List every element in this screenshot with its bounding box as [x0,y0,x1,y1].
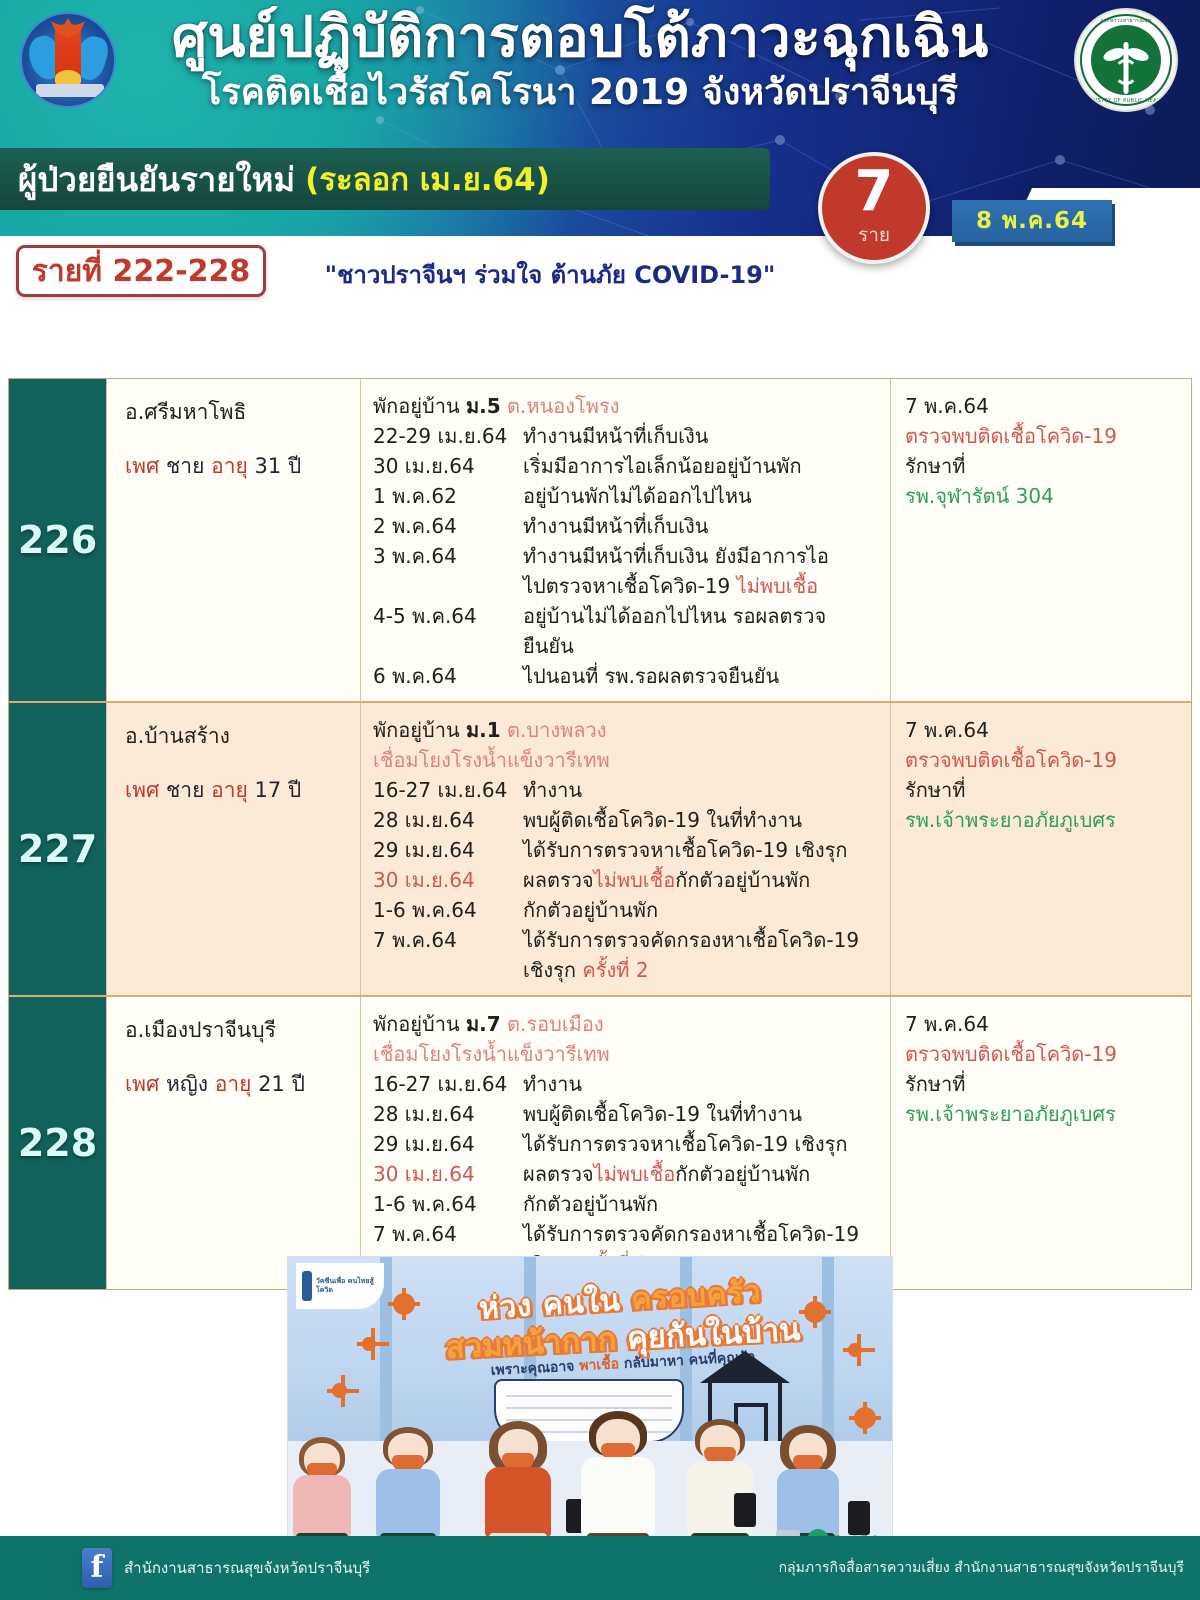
timeline-entry: 16-27 เม.ย.64ทำงาน [373,775,882,805]
timeline-entry: 3 พ.ค.64ทำงานมีหน้าที่เก็บเงิน ยังมีอากา… [373,541,882,571]
timeline-date: 29 เม.ย.64 [373,835,523,865]
demographics: เพศ หญิง อายุ 21 ปี [125,1069,350,1099]
treatment-cell: 7 พ.ค.64ตรวจพบติดเชื้อโควิด-19รักษาที่รพ… [891,703,1191,995]
new-confirmed-cases-band: ผู้ป่วยยืนยันรายใหม่ (ระลอก เม.ย.64) [0,148,770,210]
case-number-cell: 226 [9,379,106,701]
timeline-date: 7 พ.ค.64 [373,925,523,955]
facebook-icon[interactable] [82,1548,112,1588]
timeline-date: 4-5 พ.ค.64 [373,601,523,631]
hospital-name: รพ.จุฬารัตน์ 304 [905,481,1183,511]
detection-date: 7 พ.ค.64 [905,715,1183,745]
header-title-sub: โรคติดเชื้อไวรัสโคโรนา 2019 จังหวัดปราจี… [150,70,1010,116]
home-address-line: พักอยู่บ้าน ม.7 ต.รอบเมือง [373,1009,882,1039]
timeline-entry: 29 เม.ย.64ได้รับการตรวจหาเชื้อโควิด-19 เ… [373,1129,882,1159]
district-name: อ.บ้านสร้าง [125,721,350,751]
treatment-cell: 7 พ.ค.64ตรวจพบติดเชื้อโควิด-19รักษาที่รพ… [891,379,1191,701]
timeline-entry: 30 เม.ย.64ผลตรวจไม่พบเชื้อกักตัวอยู่บ้าน… [373,1159,882,1189]
sex-label: เพศ [125,454,159,478]
timeline-entry: 30 เม.ย.64ผลตรวจไม่พบเชื้อกักตัวอยู่บ้าน… [373,865,882,895]
timeline-text: เริ่มมีอาการไอเล็กน้อยอยู่บ้านพัก [523,451,882,481]
timeline-entry: 28 เม.ย.64พบผู้ติดเชื้อโควิด-19 ในที่ทำง… [373,805,882,835]
poster-campaign-badge: วัคซีนเพื่อ คนไทยสู้โควิด [296,1263,384,1309]
demographics: เพศ ชาย อายุ 31 ปี [125,451,350,481]
timeline-text: อยู่บ้านพักไม่ได้ออกไปไหน [523,481,882,511]
case-count-badge: 7 ราย [818,152,930,264]
poster-subline-b: พาเชื้อ [579,1356,620,1374]
timeline-text: พบผู้ติดเชื้อโควิด-19 ในที่ทำงาน [523,1099,882,1129]
timeline-date: 30 เม.ย.64 [373,1159,523,1189]
timeline-text: ทำงาน [523,775,882,805]
age-value: 17 [255,778,282,802]
timeline-date: 16-27 เม.ย.64 [373,1069,523,1099]
age-unit: ปี [292,1072,305,1096]
timeline-date: 30 เม.ย.64 [373,451,523,481]
home-address-line: พักอยู่บ้าน ม.5 ต.หนองโพรง [373,391,882,421]
timeline-entry: 22-29 เม.ย.64ทำงานมีหน้าที่เก็บเงิน [373,421,882,451]
case-count-unit: ราย [858,220,890,250]
timeline-date: 1 พ.ค.62 [373,481,523,511]
workplace-link-line: เชื่อมโยงโรงน้ำแข็งวารีเทพ [373,1039,882,1069]
timeline-entry: 1-6 พ.ค.64กักตัวอยู่บ้านพัก [373,895,882,925]
timeline-text: ผลตรวจไม่พบเชื้อกักตัวอยู่บ้านพัก [523,865,882,895]
age-label: อายุ [211,778,248,802]
timeline-entry: 16-27 เม.ย.64ทำงาน [373,1069,882,1099]
table-row: 226อ.ศรีมหาโพธิเพศ ชาย อายุ 31 ปีพักอยู่… [9,379,1191,703]
age-label: อายุ [211,454,248,478]
timeline-date: 28 เม.ย.64 [373,1099,523,1129]
moph-emblem-icon: กระทรวงสาธารณสุข MINISTRY OF PUBLIC HEAL… [1074,8,1178,112]
home-address-line: พักอยู่บ้าน ม.1 ต.บางพลวง [373,715,882,745]
timeline-continuation: ไปตรวจหาเชื้อโควิด-19 ไม่พบเชื้อ [373,571,882,601]
timeline-cell: พักอยู่บ้าน ม.5 ต.หนองโพรง22-29 เม.ย.64ท… [361,379,891,701]
timeline-text: ได้รับการตรวจหาเชื้อโควิด-19 เชิงรุก [523,1129,882,1159]
virus-icon [332,1383,347,1398]
timeline-text: ทำงาน [523,1069,882,1099]
detection-date: 7 พ.ค.64 [905,1009,1183,1039]
case-number-cell: 228 [9,997,106,1289]
poster-badge-text: วัคซีนเพื่อ คนไทยสู้โควิด [316,1277,378,1295]
timeline-text: ทำงานมีหน้าที่เก็บเงิน [523,511,882,541]
timeline-entry: 28 เม.ย.64พบผู้ติดเชื้อโควิด-19 ในที่ทำง… [373,1099,882,1129]
timeline-text: กักตัวอยู่บ้านพัก [523,895,882,925]
workplace-link-line: เชื่อมโยงโรงน้ำแข็งวารีเทพ [373,745,882,775]
sex-value: หญิง [166,1072,208,1096]
band-wave-label: (ระลอก เม.ย.64) [305,154,550,204]
age-unit: ปี [288,778,301,802]
timeline-date: 7 พ.ค.64 [373,1219,523,1249]
treated-at-label: รักษาที่ [905,451,1183,481]
page-footer: สำนักงานสาธารณสุขจังหวัดปราจีนบุรี กลุ่ม… [0,1536,1200,1600]
moph-ring-bottom-text: MINISTRY OF PUBLIC HEALTH [1076,98,1176,104]
timeline-text: ทำงานมีหน้าที่เก็บเงิน ยังมีอาการไอ [523,541,882,571]
timeline-entry: 7 พ.ค.64ได้รับการตรวจคัดกรองหาเชื้อโควิด… [373,925,882,955]
demographics: เพศ ชาย อายุ 17 ปี [125,775,350,805]
hospital-name: รพ.เจ้าพระยาอภัยภูเบศร [905,805,1183,835]
virus-icon [362,1337,376,1351]
timeline-date: 2 พ.ค.64 [373,511,523,541]
case-number: 227 [18,827,97,871]
footer-facebook-page[interactable]: สำนักงานสาธารณสุขจังหวัดปราจีนบุรี [124,1556,370,1580]
sex-value: ชาย [166,778,204,802]
sex-label: เพศ [125,1072,159,1096]
page-number-label: หน้า 2/2 [1000,312,1116,318]
case-number-cell: 227 [9,703,106,995]
case-table: 226อ.ศรีมหาโพธิเพศ ชาย อายุ 31 ปีพักอยู่… [8,378,1192,1290]
case-number: 226 [18,518,97,562]
timeline-entry: 2 พ.ค.64ทำงานมีหน้าที่เก็บเงิน [373,511,882,541]
district-name: อ.เมืองปราจีนบุรี [125,1015,350,1045]
timeline-text: ได้รับการตรวจคัดกรองหาเชื้อโควิด-19 [523,1219,882,1249]
detection-date: 7 พ.ค.64 [905,391,1183,421]
treated-at-label: รักษาที่ [905,1069,1183,1099]
timeline-entry: 29 เม.ย.64ได้รับการตรวจหาเชื้อโควิด-19 เ… [373,835,882,865]
age-unit: ปี [288,454,301,478]
timeline-text: กักตัวอยู่บ้านพัก [523,1189,882,1219]
timeline-entry: 7 พ.ค.64ได้รับการตรวจคัดกรองหาเชื้อโควิด… [373,1219,882,1249]
vaccine-bottle-icon [302,1271,312,1301]
detection-result: ตรวจพบติดเชื้อโควิด-19 [905,1039,1183,1069]
detection-result: ตรวจพบติดเชื้อโควิด-19 [905,745,1183,775]
timeline-date: 30 เม.ย.64 [373,865,523,895]
report-date-text: 8 พ.ค.64 [976,203,1088,239]
case-count-number: 7 [855,166,894,218]
timeline-text: ได้รับการตรวจคัดกรองหาเชื้อโควิด-19 [523,925,882,955]
district-name: อ.ศรีมหาโพธิ [125,397,350,427]
timeline-entry: 6 พ.ค.64ไปนอนที่ รพ.รอผลตรวจยืนยัน [373,661,882,691]
timeline-date: 16-27 เม.ย.64 [373,775,523,805]
band-label: ผู้ป่วยยืนยันรายใหม่ [18,153,295,206]
sex-label: เพศ [125,778,159,802]
timeline-text: ผลตรวจไม่พบเชื้อกักตัวอยู่บ้านพัก [523,1159,882,1189]
table-row: 228อ.เมืองปราจีนบุรีเพศ หญิง อายุ 21 ปีพ… [9,997,1191,1289]
timeline-date: 6 พ.ค.64 [373,661,523,691]
moph-ring-top-text: กระทรวงสาธารณสุข [1076,17,1176,25]
age-value: 31 [255,454,282,478]
case-range-text: รายที่ 222-228 [32,248,250,295]
header-titles: ศูนย์ปฏิบัติการตอบโต้ภาวะฉุกเฉิน โรคติดเ… [150,6,1010,116]
case-number: 228 [18,1121,97,1165]
poster-subline-a: เพราะคุณอาจ [490,1358,579,1379]
age-value: 21 [258,1072,285,1096]
timeline-date: 28 เม.ย.64 [373,805,523,835]
timeline-text: อยู่บ้านไม่ได้ออกไปไหน รอผลตรวจ [523,601,882,631]
report-date-badge: 8 พ.ค.64 [952,200,1112,242]
sex-value: ชาย [166,454,204,478]
timeline-text: ได้รับการตรวจหาเชื้อโควิด-19 เชิงรุก [523,835,882,865]
case-range-badge: รายที่ 222-228 [16,245,266,297]
treatment-cell: 7 พ.ค.64ตรวจพบติดเชื้อโควิด-19รักษาที่รพ… [891,997,1191,1289]
header-title-main: ศูนย์ปฏิบัติการตอบโต้ภาวะฉุกเฉิน [150,6,1010,70]
timeline-cell: พักอยู่บ้าน ม.1 ต.บางพลวงเชื่อมโยงโรงน้ำ… [361,703,891,995]
timeline-date: 22-29 เม.ย.64 [373,421,523,451]
age-label: อายุ [215,1072,252,1096]
treated-at-label: รักษาที่ [905,775,1183,805]
detection-result: ตรวจพบติดเชื้อโควิด-19 [905,421,1183,451]
timeline-entry: 30 เม.ย.64เริ่มมีอาการไอเล็กน้อยอยู่บ้าน… [373,451,882,481]
infographic-page: กระทรวงสาธารณสุข MINISTRY OF PUBLIC HEAL… [0,0,1200,1600]
timeline-continuation: ยืนยัน [373,631,882,661]
location-cell: อ.ศรีมหาโพธิเพศ ชาย อายุ 31 ปี [106,379,361,701]
location-cell: อ.บ้านสร้างเพศ ชาย อายุ 17 ปี [106,703,361,995]
location-cell: อ.เมืองปราจีนบุรีเพศ หญิง อายุ 21 ปี [106,997,361,1289]
footer-credit: กลุ่มภารกิจสื่อสารความเสี่ยง สำนักงานสาธ… [779,1557,1184,1579]
timeline-entry: 1 พ.ค.62อยู่บ้านพักไม่ได้ออกไปไหน [373,481,882,511]
timeline-text: พบผู้ติดเชื้อโควิด-19 ในที่ทำงาน [523,805,882,835]
timeline-date: 3 พ.ค.64 [373,541,523,571]
timeline-date: 29 เม.ย.64 [373,1129,523,1159]
timeline-date: 1-6 พ.ค.64 [373,895,523,925]
timeline-date: 1-6 พ.ค.64 [373,1189,523,1219]
table-row: 227อ.บ้านสร้างเพศ ชาย อายุ 17 ปีพักอยู่บ… [9,703,1191,997]
header-banner: กระทรวงสาธารณสุข MINISTRY OF PUBLIC HEAL… [0,0,1200,318]
timeline-text: ไปนอนที่ รพ.รอผลตรวจยืนยัน [523,661,882,691]
timeline-cell: พักอยู่บ้าน ม.7 ต.รอบเมืองเชื่อมโยงโรงน้… [361,997,891,1289]
virus-icon [854,1407,876,1429]
timeline-continuation: เชิงรุก ครั้งที่ 2 [373,955,882,985]
mask-campaign-poster: วัคซีนเพื่อ คนไทยสู้โควิด ห่วง คนใน ครอบ… [287,1256,893,1558]
garuda-emblem-icon [20,12,116,108]
timeline-entry: 4-5 พ.ค.64อยู่บ้านไม่ได้ออกไปไหน รอผลตรว… [373,601,882,631]
campaign-tagline: "ชาวปราจีนฯ ร่วมใจ ต้านภัย COVID-19" [290,255,810,294]
hospital-name: รพ.เจ้าพระยาอภัยภูเบศร [905,1099,1183,1129]
timeline-text: ทำงานมีหน้าที่เก็บเงิน [523,421,882,451]
timeline-entry: 1-6 พ.ค.64กักตัวอยู่บ้านพัก [373,1189,882,1219]
